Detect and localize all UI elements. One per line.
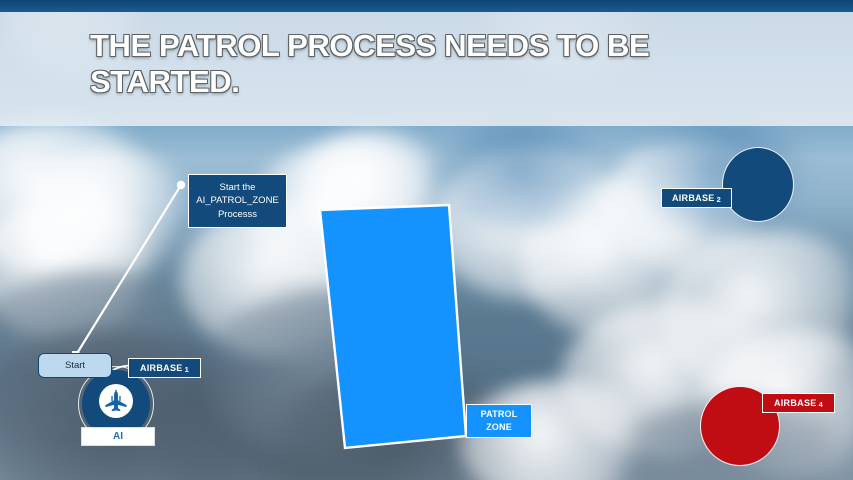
airbase-4-label[interactable]: AIRBASE4: [762, 393, 835, 413]
top-accent-bar: [0, 0, 853, 12]
airbase-1-number: 1: [185, 365, 189, 374]
airbase-1-label[interactable]: AIRBASE1: [128, 358, 201, 378]
airbase-2-label[interactable]: AIRBASE2: [661, 188, 732, 208]
slide-canvas: THE PATROL PROCESS NEEDS TO BE STARTED.: [0, 0, 853, 480]
airbase-2-circle[interactable]: [722, 147, 794, 222]
airbase-2-label-text: AIRBASE: [672, 193, 715, 203]
airbase-4-number: 4: [819, 400, 823, 409]
airbase-4-label-text: AIRBASE: [774, 398, 817, 408]
fighter-jet-icon: [99, 384, 133, 418]
airbase-2-number: 2: [717, 195, 721, 204]
ai-node-label: AI: [81, 427, 155, 446]
airbase-1-label-text: AIRBASE: [140, 363, 183, 373]
patrol-zone-label[interactable]: PATROL ZONE: [466, 404, 532, 438]
page-title: THE PATROL PROCESS NEEDS TO BE STARTED.: [90, 28, 730, 100]
process-callout[interactable]: Start the AI_PATROL_ZONE Processs: [188, 174, 287, 228]
start-button[interactable]: Start: [38, 353, 112, 378]
